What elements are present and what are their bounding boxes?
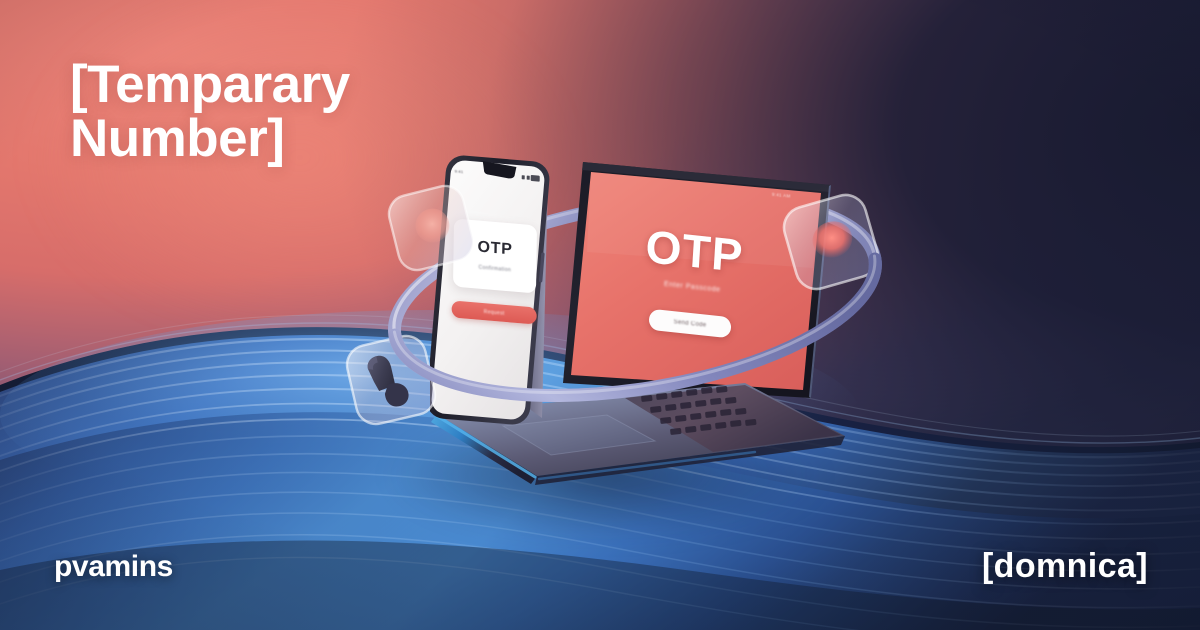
brand-wordmark-pvamins: pvamins [54, 550, 173, 584]
promo-banner: 9:41 AM OTP Enter Passcode Send Code [0, 0, 1200, 630]
page-title: [Temparary Number] [70, 58, 350, 166]
brand-wordmark-domnica: [domnica] [982, 547, 1148, 586]
